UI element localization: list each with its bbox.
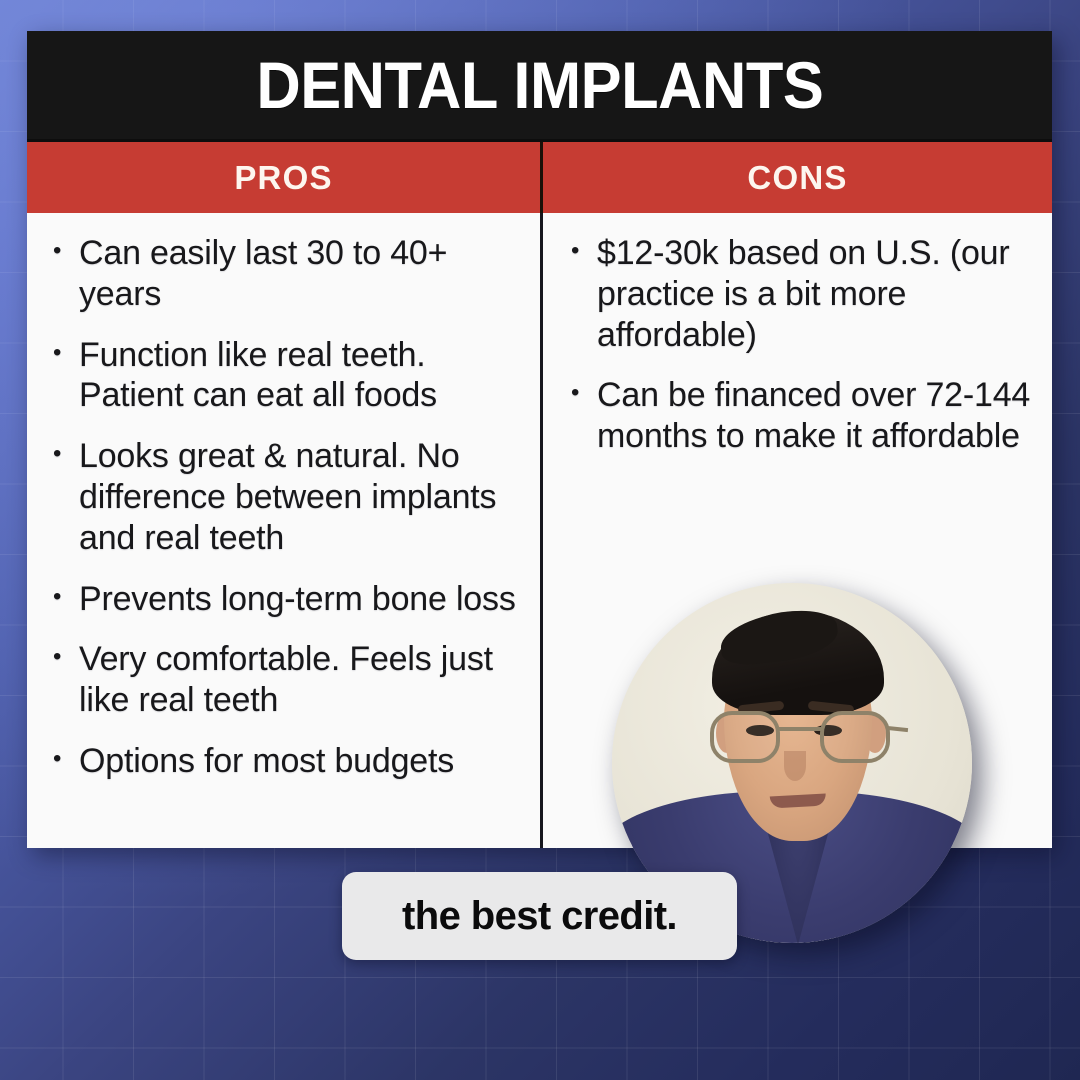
card-title-bar: DENTAL IMPLANTS — [27, 31, 1052, 139]
caption-text: the best credit. — [402, 894, 677, 939]
list-item: Prevents long-term bone loss — [47, 579, 522, 620]
glasses-lens-right — [820, 711, 890, 763]
list-item: Can be financed over 72-144 months to ma… — [563, 375, 1034, 457]
list-item: Very comfortable. Feels just like real t… — [47, 639, 522, 721]
column-header-cons-label: CONS — [747, 159, 847, 197]
list-item: $12-30k based on U.S. (our practice is a… — [563, 233, 1034, 355]
column-header-pros: PROS — [27, 142, 540, 213]
page-title: DENTAL IMPLANTS — [256, 47, 823, 123]
list-item: Options for most budgets — [47, 741, 522, 782]
column-header-row: PROS CONS — [27, 139, 1052, 213]
column-header-cons: CONS — [540, 142, 1052, 213]
glasses-bridge — [778, 727, 824, 731]
cons-list: $12-30k based on U.S. (our practice is a… — [563, 233, 1034, 457]
poster-canvas: DENTAL IMPLANTS PROS CONS Can easily las… — [0, 0, 1080, 1080]
glasses-lens-left — [710, 711, 780, 763]
glasses-icon — [710, 707, 890, 765]
list-item: Looks great & natural. No difference bet… — [47, 436, 522, 558]
list-item: Can easily last 30 to 40+ years — [47, 233, 522, 315]
caption-pill: the best credit. — [342, 872, 737, 960]
column-header-pros-label: PROS — [234, 159, 332, 197]
pros-list: Can easily last 30 to 40+ years Function… — [47, 233, 522, 782]
list-item: Function like real teeth. Patient can ea… — [47, 335, 522, 417]
pros-column: Can easily last 30 to 40+ years Function… — [27, 213, 540, 848]
